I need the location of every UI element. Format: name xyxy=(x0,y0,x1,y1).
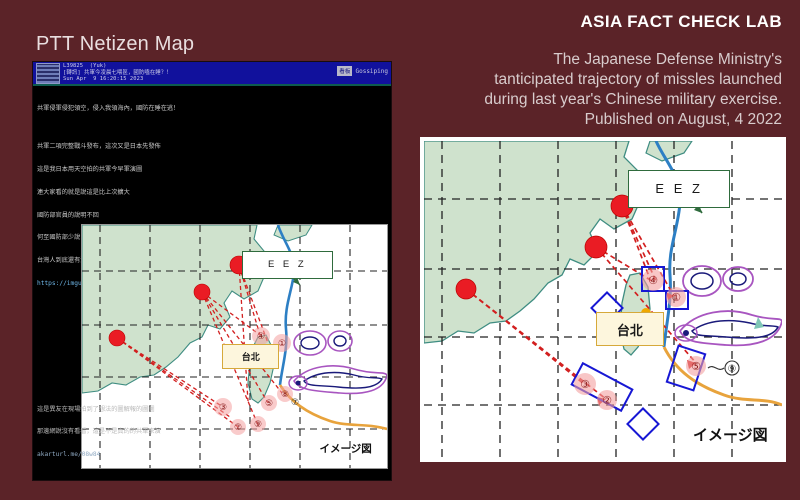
marker-right-9: ⑨ xyxy=(728,364,737,375)
ptt-header-line-1: L39825 (Yuk) xyxy=(63,63,107,69)
ptt-header-line-2: [轉訊] 共軍今凌晨七喂區，國防嗑在睡？！ xyxy=(63,70,172,76)
marker-right-2: ② xyxy=(602,394,612,407)
launch-dot-right-2 xyxy=(585,236,607,258)
ptt-body-line-4: 連大家看的就是說這是比上次擴大 xyxy=(37,189,337,197)
ptt-body-line-2: 共軍二項完整戰斗發布，這次又是日本先發佈 xyxy=(37,143,337,151)
ptt-screenshot: L39825 (Yuk) [轉訊] 共軍今凌晨七喂區，國防嗑在睡？！ Sun A… xyxy=(33,62,391,480)
image-note-right: イメージ図 xyxy=(693,424,768,445)
launch-dot-2 xyxy=(194,284,210,300)
eez-label-box-right: E E Z xyxy=(628,170,730,208)
eez-label-text-left: E E Z xyxy=(268,259,307,270)
brand-title: ASIA FACT CHECK LAB xyxy=(580,12,782,32)
subtitle-line-4: Published on August, 4 2022 xyxy=(362,110,782,130)
marker-right-3: ③ xyxy=(580,378,590,391)
marker-4: ④ xyxy=(257,332,265,342)
jdm-trajectory-map: ④ ① ⑤ ⑨ ③ ② E E Z 台北 イメージ図 xyxy=(424,141,782,458)
taipei-label-box-left: 台北 xyxy=(222,344,279,369)
ptt-footer-line-1: 那邊網說沒有看看，這是不是真的的共軍來演 xyxy=(37,428,337,436)
eez-label-box-left: E E Z xyxy=(242,251,332,280)
marker-right-4: ④ xyxy=(648,274,658,287)
ptt-body-line-5: 國防部官員的說明不回 xyxy=(37,212,337,220)
ptt-footer-text: 這是異友在現場拍到了想法的圖解報的圖圖 那邊網說沒有看看，這是不是真的的共軍來演… xyxy=(37,390,337,474)
ptt-board-name: Gossiping xyxy=(355,68,388,75)
subtitle-line-2: tanticipated trajectory of missles launc… xyxy=(362,70,782,90)
subtitle-line-3: during last year's Chinese military exer… xyxy=(362,90,782,110)
marker-right-1: ① xyxy=(671,291,681,304)
launch-dot-right-1 xyxy=(456,279,476,299)
ptt-divider xyxy=(33,84,391,86)
taipei-label-text-left: 台北 xyxy=(242,350,260,363)
taipei-label-text-right: 台北 xyxy=(617,320,643,339)
ptt-board-tag: 看板 xyxy=(337,66,352,76)
page-root: ASIA FACT CHECK LAB The Japanese Defense… xyxy=(0,0,800,500)
ptt-body-line-0: 共軍侵軍侵犯領空，侵入我領海內，國防在睡在逃！ xyxy=(37,105,337,113)
ptt-body-line-3: 這是我日本用天空拍的共軍今早軍演圖 xyxy=(37,166,337,174)
ptt-logo-icon xyxy=(36,63,60,84)
taipei-label-box-right: 台北 xyxy=(596,312,664,346)
ptt-board-indicator: 看板 Gossiping xyxy=(337,66,388,76)
ptt-footer-line-0: 這是異友在現場拍到了想法的圖解報的圖圖 xyxy=(37,406,337,414)
page-title: PTT Netizen Map xyxy=(36,33,194,56)
jdm-map-frame: ④ ① ⑤ ⑨ ③ ② E E Z 台北 イメージ図 xyxy=(420,137,786,462)
marker-right-5: ⑤ xyxy=(691,360,701,373)
subtitle-block: The Japanese Defense Ministry's tanticip… xyxy=(362,50,782,130)
ptt-header-text: L39825 (Yuk) [轉訊] 共軍今凌晨七喂區，國防嗑在睡？！ Sun A… xyxy=(63,63,172,82)
subtitle-line-1: The Japanese Defense Ministry's xyxy=(362,50,782,70)
ptt-footer-line-2[interactable]: akarturl.me/08w84 xyxy=(37,451,337,459)
ptt-header-line-3: Sun Apr 9 16:20:15 2023 xyxy=(63,76,143,82)
eez-label-text-right: E E Z xyxy=(655,181,703,196)
launch-dot-1 xyxy=(109,330,125,346)
ptt-header-bar: L39825 (Yuk) [轉訊] 共軍今凌晨七喂區，國防嗑在睡？！ Sun A… xyxy=(33,62,391,84)
